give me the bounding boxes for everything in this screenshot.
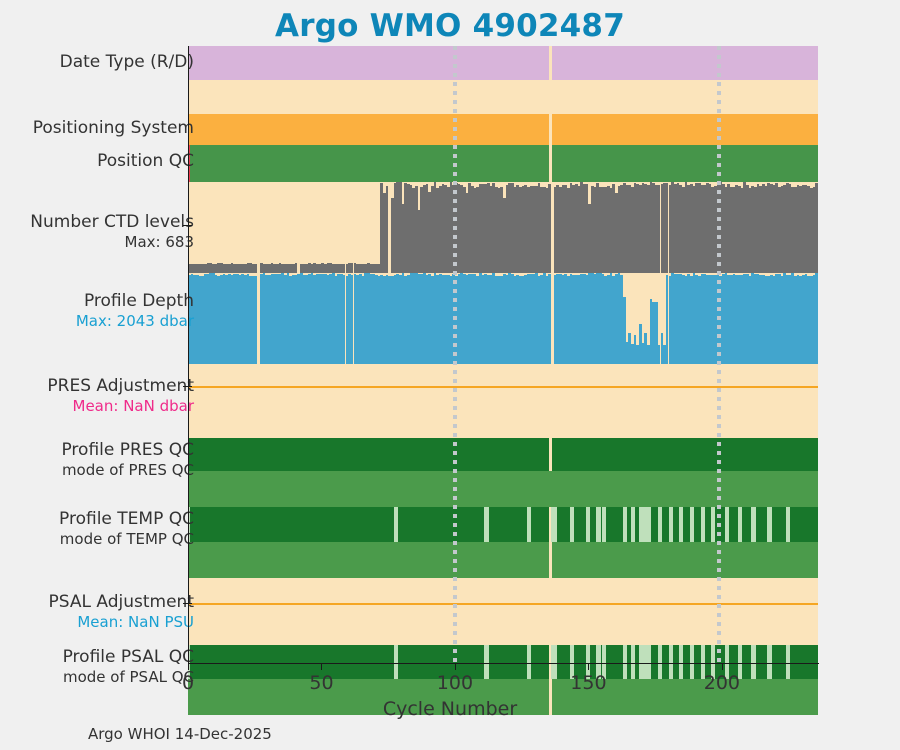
x-tick-label-200: 200 — [704, 672, 740, 694]
profile-psal-qc-band-gap — [767, 645, 771, 679]
page-title: Argo WMO 4902487 — [0, 8, 900, 44]
row-label-text: PSAL Adjustment — [49, 592, 194, 612]
row-label-pres-adjustment: PRES AdjustmentMean: NaN dbar — [47, 376, 194, 416]
profile-psal-qc-band-gap — [527, 645, 531, 679]
profile-pres-qc-band — [552, 438, 818, 471]
x-tick-0 — [188, 663, 189, 670]
profile-psal-qc-band-gap — [690, 645, 694, 679]
profile-temp-qc-band-gap — [751, 507, 755, 542]
ctd-level-bar — [295, 263, 298, 273]
profile-psal-qc-band-gap — [647, 645, 651, 679]
row-label-positioning-system: Positioning System — [33, 118, 194, 138]
profile-temp-qc-band — [188, 507, 549, 542]
y-axis-line — [188, 46, 189, 664]
row-label-text: Number CTD levels — [30, 212, 194, 232]
row-label-text: Profile PRES QC — [61, 440, 194, 460]
row-label-text: Positioning System — [33, 118, 194, 138]
profile-psal-qc-band-gap — [394, 645, 398, 679]
panel-profile-depth — [188, 273, 818, 364]
gridline-cycle-100 — [453, 46, 457, 664]
position-qc-band — [190, 145, 549, 182]
profile-temp-qc-band-gap — [658, 507, 662, 542]
profile-temp-qc-band-gap — [647, 507, 651, 542]
profile-psal-qc-band-gap — [669, 645, 673, 679]
profile-psal-qc-band-gap — [658, 645, 662, 679]
panel-mode-of-temp-qc — [188, 542, 818, 578]
profile-temp-qc-band-gap — [551, 507, 557, 542]
panel-pres-adjustment — [188, 364, 818, 438]
profile-temp-qc-band-gap — [725, 507, 729, 542]
profile-psal-qc-band-gap — [623, 645, 627, 679]
position-qc-band — [552, 145, 818, 182]
positioning-system-band — [188, 114, 549, 145]
profile-temp-qc-band-gap — [596, 507, 600, 542]
profile-temp-qc-band — [552, 507, 818, 542]
pres-adjustment-y-tick — [183, 386, 192, 387]
profile-temp-qc-band-gap — [631, 507, 635, 542]
x-tick-100 — [455, 663, 456, 670]
x-tick-150 — [588, 663, 589, 670]
row-label-profile-pres-qc: Profile PRES QCmode of PRES QC — [61, 440, 194, 480]
x-tick-50 — [321, 663, 322, 670]
panel-profile-pres-qc — [188, 438, 818, 471]
profile-psal-qc-band-gap — [751, 645, 755, 679]
profile-temp-qc-band-gap — [767, 507, 771, 542]
row-sublabel-text: Max: 2043 dbar — [76, 311, 194, 331]
profile-temp-qc-band-gap — [484, 507, 488, 542]
row-label-number-ctd-levels: Number CTD levelsMax: 683 — [30, 212, 194, 252]
chart-plot-area — [188, 46, 818, 664]
row-label-profile-temp-qc: Profile TEMP QCmode of TEMP QC — [59, 509, 194, 549]
profile-temp-qc-band-gap — [623, 507, 627, 542]
row-label-profile-depth: Profile DepthMax: 2043 dbar — [76, 291, 194, 331]
panel-positioning-system — [188, 114, 818, 145]
profile-temp-qc-band-gap — [586, 507, 590, 542]
row-label-psal-adjustment: PSAL AdjustmentMean: NaN PSU — [49, 592, 194, 632]
date-type-band — [552, 46, 818, 80]
panel-number-ctd-levels — [188, 182, 818, 273]
panel-psal-adjustment — [188, 578, 818, 645]
row-label-text: Profile TEMP QC — [59, 509, 194, 529]
row-sublabel-text: mode of TEMP QC — [59, 529, 194, 549]
profile-temp-qc-band-gap — [786, 507, 790, 542]
gridline-cycle-199 — [717, 46, 721, 664]
positioning-system-band — [552, 114, 818, 145]
row-label-text: Profile PSAL QC — [63, 647, 194, 667]
profile-temp-qc-band-gap — [669, 507, 673, 542]
profile-temp-qc-band-gap — [679, 507, 683, 542]
panel-date-type — [188, 46, 818, 80]
x-axis-line — [188, 663, 819, 664]
row-label-text: PRES Adjustment — [47, 376, 194, 396]
profile-temp-qc-band-gap — [527, 507, 531, 542]
mode-of-temp-qc-band — [552, 542, 818, 578]
row-sublabel-text: Max: 683 — [30, 232, 194, 252]
profile-psal-qc-band-gap — [631, 645, 635, 679]
ctd-level-bar — [386, 186, 389, 273]
profile-depth-bar — [548, 274, 551, 364]
ctd-level-bar — [255, 264, 258, 273]
profile-psal-qc-band-gap — [551, 645, 557, 679]
profile-psal-qc-band-gap — [679, 645, 683, 679]
ctd-level-bar — [548, 184, 551, 273]
panel-mode-of-pres-qc — [188, 471, 818, 507]
row-label-position-qc: Position QC — [97, 151, 194, 171]
panel-position-qc — [188, 145, 818, 182]
row-sublabel-text: mode of PRES QC — [61, 460, 194, 480]
x-tick-200 — [722, 663, 723, 670]
profile-temp-qc-band-gap — [570, 507, 574, 542]
pres-adjustment-zero-line — [188, 386, 818, 388]
date-type-band — [188, 46, 549, 80]
profile-depth-bar — [255, 276, 258, 364]
psal-adjustment-y-tick — [183, 603, 192, 604]
panel-profile-temp-qc — [188, 507, 818, 542]
profile-temp-qc-band-gap — [738, 507, 742, 542]
mode-of-temp-qc-band — [188, 542, 549, 578]
x-axis-title: Cycle Number — [0, 698, 900, 720]
psal-adjustment-zero-line — [188, 603, 818, 605]
footer-credit: Argo WHOI 14-Dec-2025 — [88, 725, 272, 743]
mode-of-pres-qc-band — [188, 471, 818, 507]
row-sublabel-text: Mean: NaN dbar — [47, 396, 194, 416]
x-tick-label-100: 100 — [437, 672, 473, 694]
row-label-text: Position QC — [97, 151, 194, 171]
profile-temp-qc-band-gap — [690, 507, 694, 542]
x-tick-label-50: 50 — [309, 672, 333, 694]
profile-temp-qc-band-gap — [701, 507, 705, 542]
profile-pres-qc-band — [188, 438, 549, 471]
profile-temp-qc-band-gap — [602, 507, 606, 542]
profile-temp-qc-band-gap — [711, 507, 715, 542]
profile-psal-qc-band-gap — [484, 645, 488, 679]
x-tick-label-0: 0 — [182, 672, 194, 694]
row-label-profile-psal-qc: Profile PSAL QCmode of PSAL QC — [63, 647, 194, 687]
row-label-text: Date Type (R/D) — [60, 52, 194, 72]
profile-temp-qc-band-gap — [394, 507, 398, 542]
profile-psal-qc-band — [188, 645, 549, 679]
row-label-text: Profile Depth — [84, 291, 194, 311]
row-sublabel-text: mode of PSAL QC — [63, 667, 194, 687]
x-tick-label-150: 150 — [570, 672, 606, 694]
row-sublabel-text: Mean: NaN PSU — [49, 612, 194, 632]
profile-psal-qc-band-gap — [786, 645, 790, 679]
ctd-y-tick — [183, 225, 192, 226]
row-label-date-type: Date Type (R/D) — [60, 52, 194, 72]
